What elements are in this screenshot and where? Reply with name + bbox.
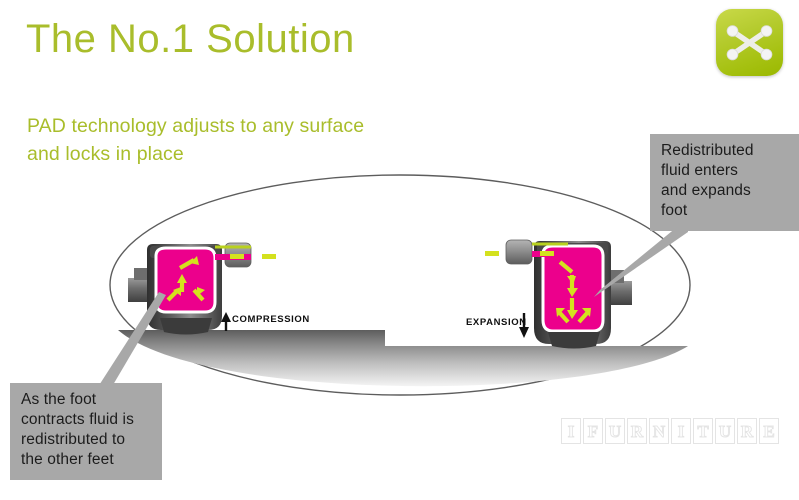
watermark-letter: I: [561, 418, 581, 444]
watermark-letter: T: [693, 418, 713, 444]
right-fluid-arrows: [559, 262, 588, 322]
page-subtitle: PAD technology adjusts to any surface an…: [27, 113, 364, 168]
ifurniture-watermark: IFURNITURE: [561, 418, 779, 444]
watermark-letter: N: [649, 418, 669, 444]
stepped-floor: [118, 330, 688, 386]
watermark-letter: I: [671, 418, 691, 444]
label-expansion: EXPANSION: [466, 317, 527, 328]
right-foot-expanded: [506, 240, 632, 349]
surface-overview-ellipse: [110, 175, 690, 395]
left-callout-pointer: [96, 292, 166, 390]
callout-left-contracts-foot[interactable]: As the foot contracts fluid is redistrib…: [10, 383, 162, 480]
left-fluid-arrows: [168, 260, 203, 300]
watermark-letter: F: [583, 418, 603, 444]
callout-right-expands-foot[interactable]: Redistributed fluid enters and expands f…: [650, 134, 799, 231]
fluid-transfer-tube: [215, 244, 568, 266]
compression-arrow-up: [221, 312, 231, 331]
watermark-letter: U: [605, 418, 625, 444]
right-fluid-arrowheads: [556, 276, 591, 319]
watermark-letter: R: [627, 418, 647, 444]
watermark-letter: R: [737, 418, 757, 444]
watermark-letter: U: [715, 418, 735, 444]
ifurniture-x-logo[interactable]: [716, 9, 783, 76]
page-title: The No.1 Solution: [26, 16, 355, 62]
label-compression: COMPRESSION: [232, 314, 310, 325]
slide-canvas: The No.1 Solution PAD technology adjusts…: [0, 0, 799, 500]
left-fluid-arrowheads: [173, 256, 205, 296]
watermark-letter: E: [759, 418, 779, 444]
x-logo-mark: [716, 9, 783, 76]
